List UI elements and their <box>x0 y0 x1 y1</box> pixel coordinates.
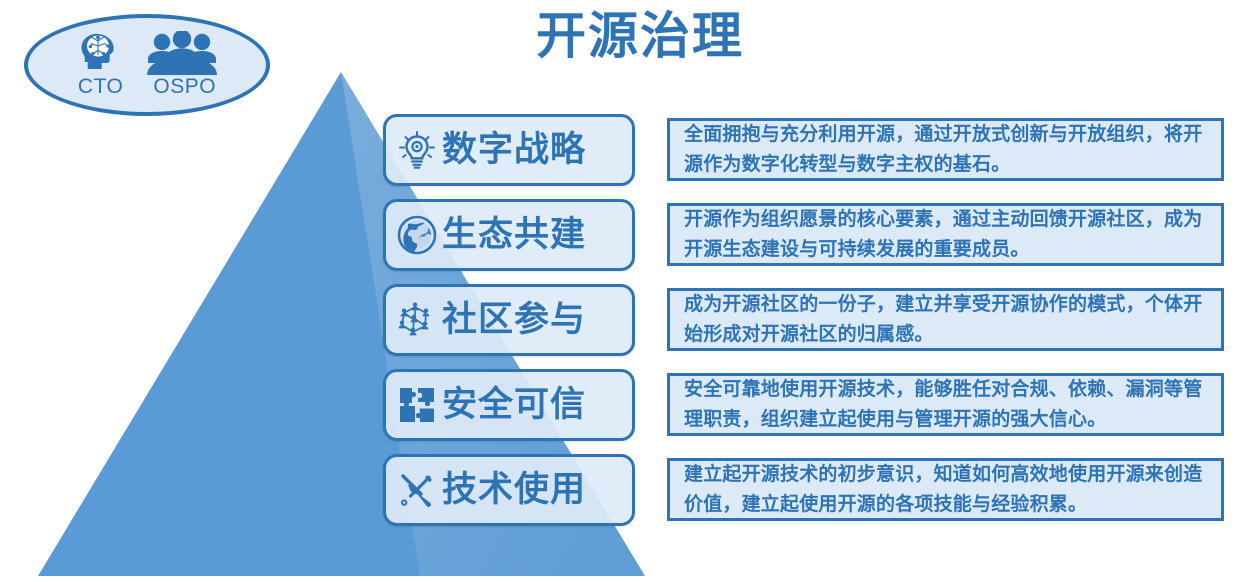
tools-icon <box>394 467 440 513</box>
description-box-digital-strategy: 全面拥抱与充分利用开源，通过开放式创新与开放组织，将开源作为数字化转型与数字主权… <box>667 118 1224 181</box>
badge-label-cto: CTO <box>78 75 123 99</box>
level-pill-security[interactable]: 安全可信 <box>383 369 635 441</box>
level-label: 数字战略 <box>442 133 586 168</box>
description-box-community: 成为开源社区的一份子，建立并享受开源协作的模式，个体开始形成对开源社区的归属感。 <box>667 288 1224 351</box>
people-group-icon <box>145 31 219 75</box>
description-box-security: 安全可靠地使用开源技术，能够胜任对合规、依赖、漏洞等管理职责，组织建立起使用与管… <box>667 373 1224 436</box>
puzzle-icon <box>394 382 440 428</box>
description-text: 开源作为组织愿景的核心要素，通过主动回馈开源社区，成为开源生态建设与可持续发展的… <box>684 205 1209 264</box>
badge-label-row: CTO OSPO <box>78 75 216 99</box>
description-text: 成为开源社区的一份子，建立并享受开源协作的模式，个体开始形成对开源社区的归属感。 <box>684 290 1209 349</box>
lightbulb-icon <box>394 127 440 173</box>
level-pill-ecosystem[interactable]: 生态共建 <box>383 199 635 271</box>
description-box-ecosystem: 开源作为组织愿景的核心要素，通过主动回馈开源社区，成为开源生态建设与可持续发展的… <box>667 203 1224 266</box>
network-people-icon <box>394 297 440 343</box>
level-pill-digital-strategy[interactable]: 数字战略 <box>383 114 635 186</box>
level-label: 生态共建 <box>442 218 586 253</box>
description-text: 全面拥抱与充分利用开源，通过开放式创新与开放组织，将开源作为数字化转型与数字主权… <box>684 120 1209 179</box>
badge-label-ospo: OSPO <box>153 75 216 99</box>
head-brain-icon <box>75 29 127 75</box>
level-pill-technology[interactable]: 技术使用 <box>383 454 635 526</box>
description-text: 安全可靠地使用开源技术，能够胜任对合规、依赖、漏洞等管理职责，组织建立起使用与管… <box>684 375 1209 434</box>
description-text: 建立起开源技术的初步意识，知道如何高效地使用开源来创造价值，建立起使用开源的各项… <box>684 460 1209 519</box>
role-badge: CTO OSPO <box>24 14 270 116</box>
infographic-canvas: CTO OSPO 开源治理 数字战略 <box>0 0 1241 582</box>
globe-icon <box>394 212 440 258</box>
level-label: 社区参与 <box>442 303 586 338</box>
level-label: 技术使用 <box>442 473 586 508</box>
description-box-technology: 建立起开源技术的初步意识，知道如何高效地使用开源来创造价值，建立起使用开源的各项… <box>667 458 1224 521</box>
level-pill-community[interactable]: 社区参与 <box>383 284 635 356</box>
level-label: 安全可信 <box>442 388 586 423</box>
page-title: 开源治理 <box>430 8 850 66</box>
badge-icon-row <box>75 27 219 75</box>
